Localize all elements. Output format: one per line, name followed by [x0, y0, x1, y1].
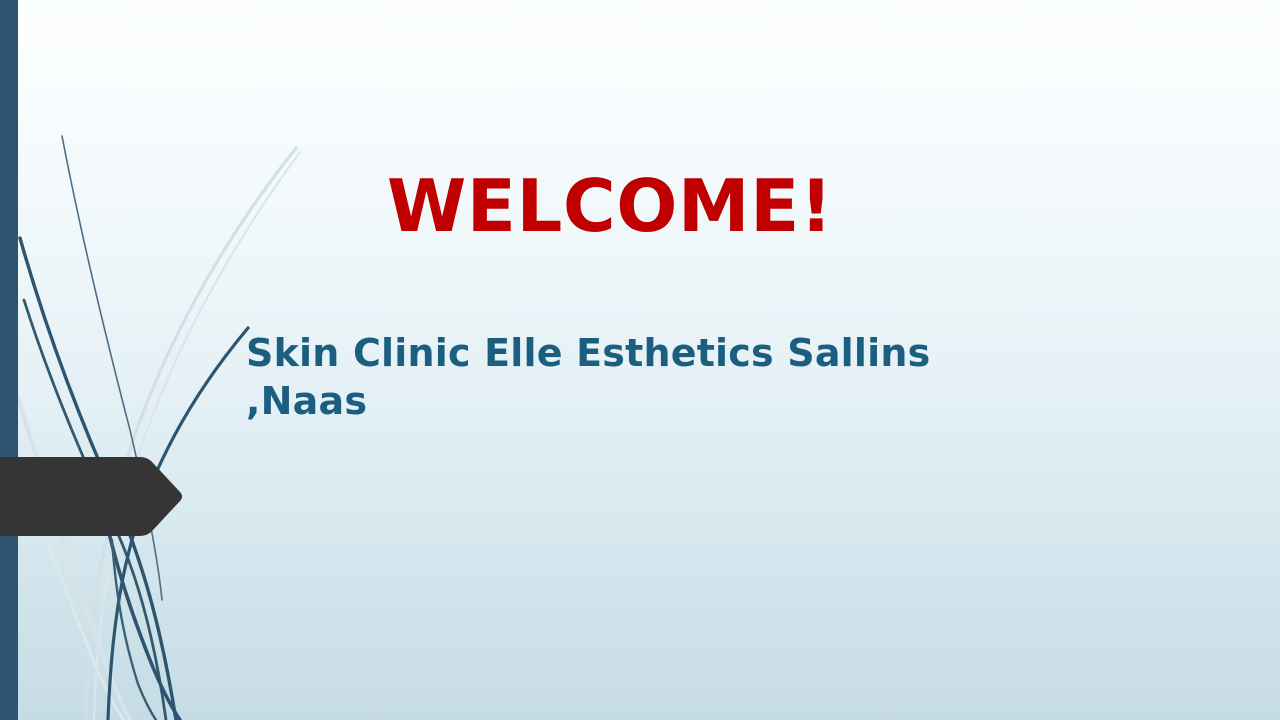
title-placeholder: WELCOME!: [150, 168, 1070, 244]
arrow-banner-path: [0, 457, 182, 536]
left-accent-bar: [0, 0, 18, 720]
dark-curve-5: [112, 540, 156, 720]
light-curve-3: [16, 392, 130, 720]
subtitle-text: Skin Clinic Elle Esthetics Sallins ,Naas: [246, 330, 1036, 425]
page-title: WELCOME!: [150, 168, 1070, 244]
arrow-banner-shape: [0, 455, 184, 538]
subtitle-placeholder: Skin Clinic Elle Esthetics Sallins ,Naas: [246, 330, 1036, 425]
slide-canvas: WELCOME! Skin Clinic Elle Esthetics Sall…: [0, 0, 1280, 720]
